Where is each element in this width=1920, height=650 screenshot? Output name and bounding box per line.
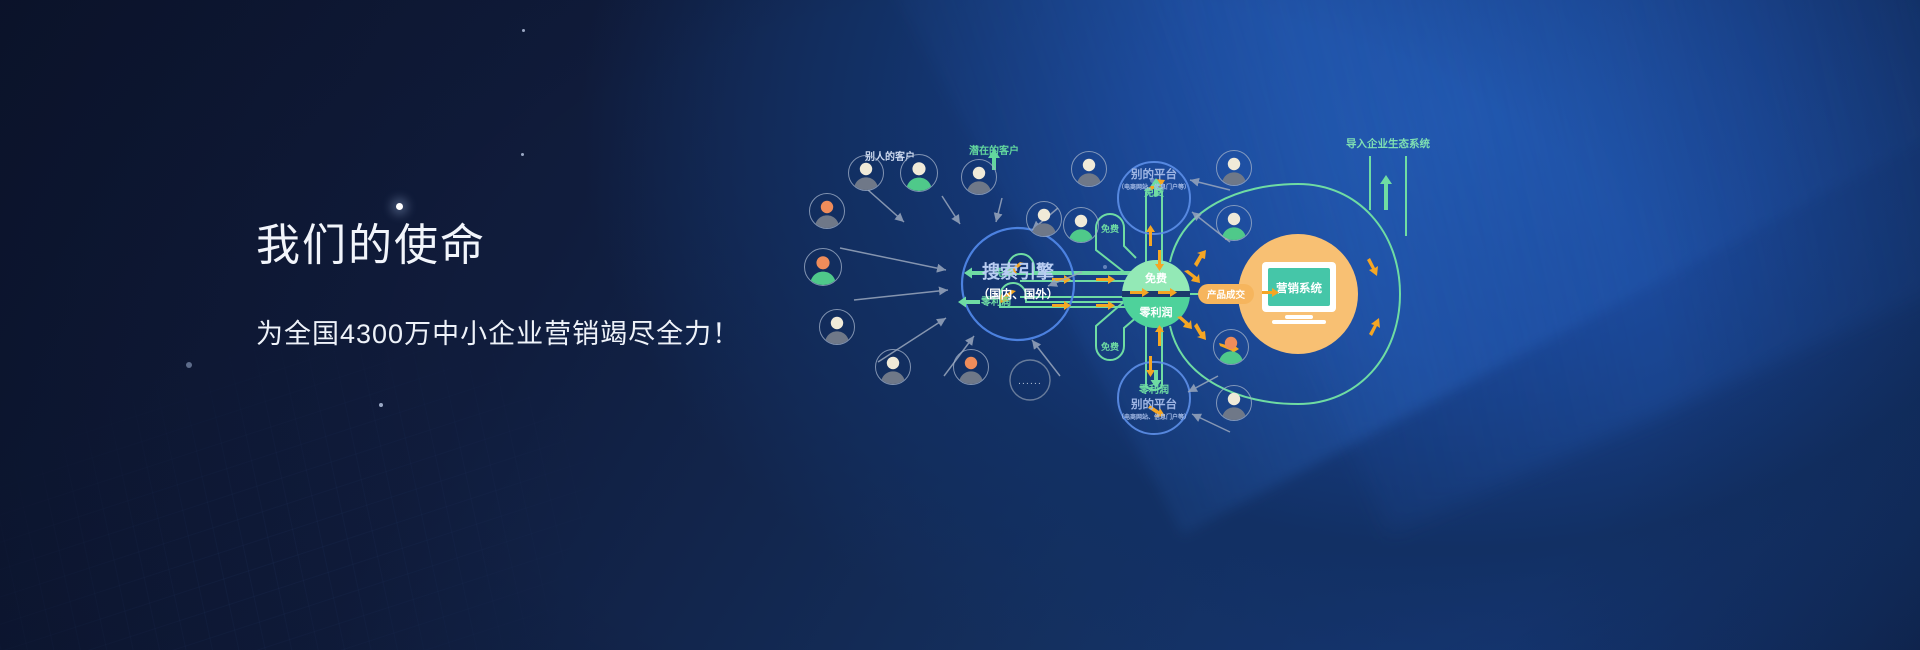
customer-avatar (1071, 151, 1107, 187)
platform-top-title: 别的平台 (1130, 167, 1177, 181)
hero-copy: 我们的使命 为全国4300万中小企业营销竭尽全力！ (256, 222, 740, 351)
more-users-dots: ...... (1018, 376, 1042, 387)
customer-avatar (875, 349, 911, 385)
customer-avatar (1216, 385, 1252, 421)
search-engine-scope: （国内、国外） (978, 287, 1059, 301)
more-users-node: ...... (1010, 360, 1050, 400)
customer-avatar (1063, 207, 1099, 243)
hero-banner: 我们的使命 为全国4300万中小企业营销竭尽全力！ (0, 0, 1920, 650)
customer-avatar (819, 309, 855, 345)
customer-avatar (1213, 329, 1249, 365)
deal-badge-label: 产品成交 (1207, 289, 1246, 301)
caption-import-ecosystem: 导入企业生态系统 (1346, 137, 1430, 150)
deal-badge: 产品成交 (1198, 284, 1254, 304)
page-title: 我们的使命 (256, 222, 740, 270)
customer-avatar (1216, 205, 1252, 241)
decor-dot (186, 362, 192, 368)
customer-avatar (804, 248, 842, 286)
decor-dot-glow (396, 203, 403, 210)
customer-avatar (961, 159, 997, 195)
badge-free-upper-right: 免费 (1101, 223, 1119, 234)
badge-free-lower-right: 免费 (1101, 341, 1119, 352)
page-subtitle: 为全国4300万中小企业营销竭尽全力！ (256, 312, 740, 351)
platform-bottom-badge: 零利润 (1138, 383, 1169, 396)
customer-avatar (900, 154, 938, 192)
hub-zero-profit-label: 零利润 (1139, 305, 1173, 319)
customer-avatar (1026, 201, 1062, 237)
hub-free-label: 免费 (1145, 271, 1167, 285)
decor-dot (522, 29, 525, 32)
platform-bottom-title: 别的平台 (1130, 397, 1177, 411)
platform-top-subtitle: （电商网站、信息门户等） (1118, 183, 1190, 191)
search-engine-title: 搜索引擎 (982, 261, 1054, 282)
customer-avatar (1216, 150, 1252, 186)
customer-avatar (848, 155, 884, 191)
customer-avatar (809, 193, 845, 229)
marketing-system-label: 营销系统 (1276, 281, 1322, 295)
platform-bottom-subtitle: （电商网站、信息门户等） (1118, 413, 1190, 421)
customer-avatar (953, 349, 989, 385)
decor-dot (379, 403, 383, 407)
decor-dot (521, 153, 524, 156)
marketing-ecosystem-diagram: 营销系统 免费 零利润 产品成交 (900, 150, 1560, 480)
